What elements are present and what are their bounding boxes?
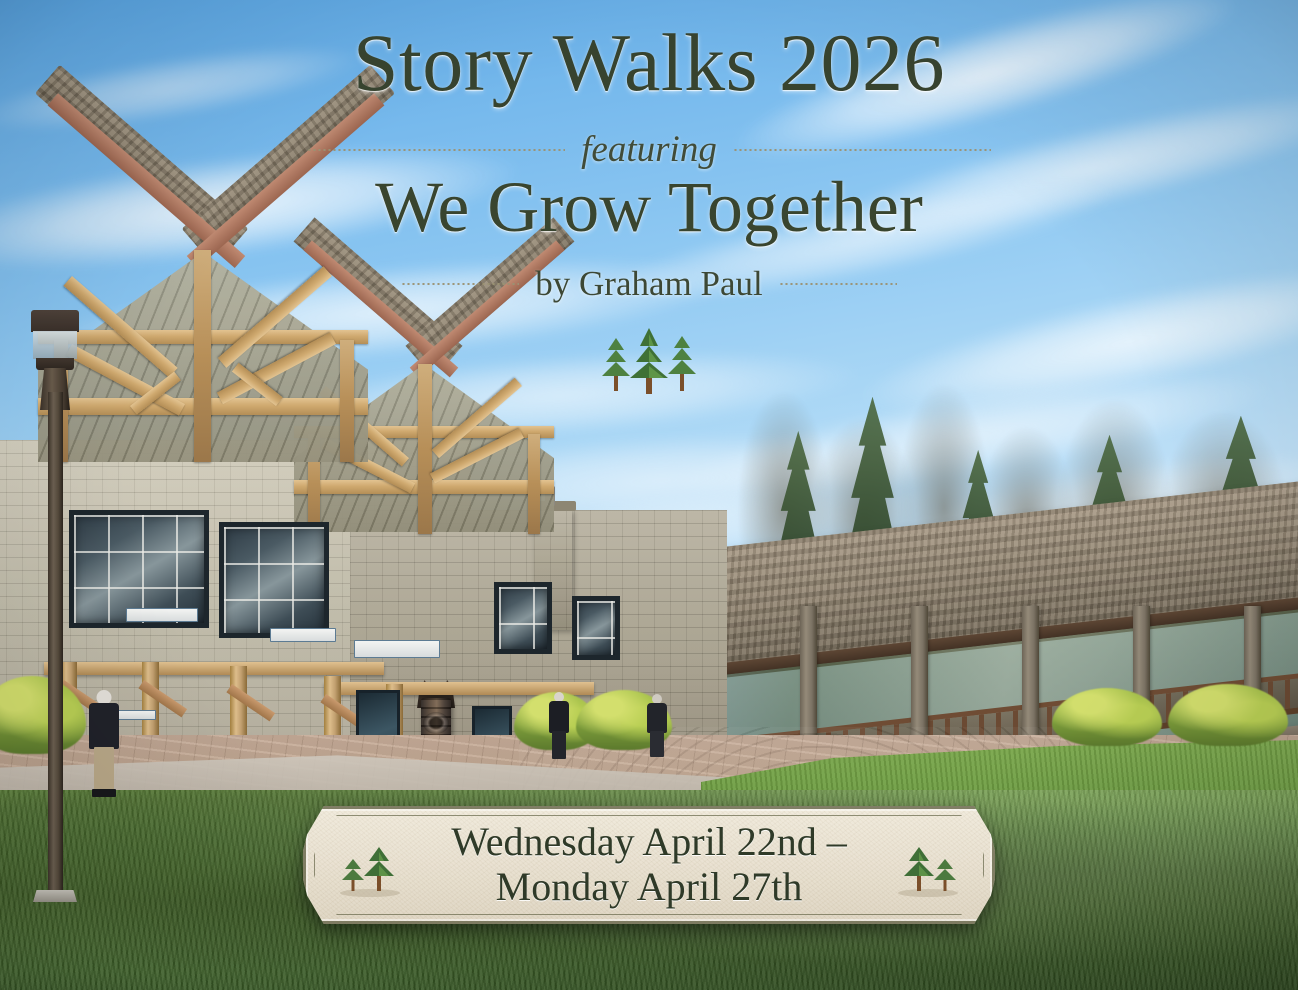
author-line: by Graham Paul [535, 264, 762, 304]
pine-trees-icon-left [333, 832, 407, 898]
featuring-label: featuring [581, 128, 717, 171]
date-plaque: Wednesday April 22nd – Monday April 27th [303, 806, 995, 924]
date-line-1: Wednesday April 22nd – [451, 820, 847, 865]
dotted-rule-left [307, 149, 565, 151]
dotted-rule-author-right [779, 283, 897, 285]
author-row: by Graham Paul [0, 264, 1298, 304]
page-title: Story Walks 2026 [0, 22, 1298, 104]
featuring-row: featuring [0, 128, 1298, 171]
book-title: We Grow Together [0, 170, 1298, 246]
story-walks-poster: Story Walks 2026 featuring We Grow Toget… [0, 0, 1298, 990]
three-pine-trees-icon [594, 318, 704, 396]
dotted-rule-author-left [401, 283, 519, 285]
date-line-2: Monday April 27th [496, 865, 803, 910]
poster-text-overlay: Story Walks 2026 featuring We Grow Toget… [0, 0, 1298, 990]
dotted-rule-right [733, 149, 991, 151]
date-range: Wednesday April 22nd – Monday April 27th [423, 806, 875, 924]
pine-trees-icon-right [891, 832, 965, 898]
